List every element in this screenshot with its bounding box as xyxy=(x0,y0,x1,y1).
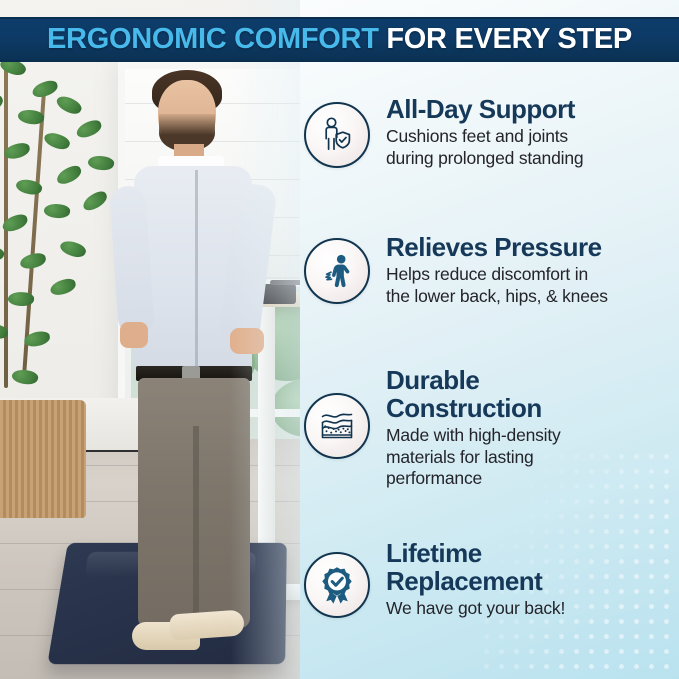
banner-plain-text: FOR EVERY STEP xyxy=(379,23,632,55)
feature-text-block: Lifetime Replacement We have got your ba… xyxy=(386,540,565,620)
header-banner: ERGONOMIC COMFORT FOR EVERY STEP xyxy=(0,17,679,62)
feature-item-lifetime-replacement: Lifetime Replacement We have got your ba… xyxy=(304,540,676,620)
feature-description: Made with high-density materials for las… xyxy=(386,425,561,491)
feature-title: All-Day Support xyxy=(386,96,583,124)
feature-list: All-Day Support Cushions feet and joints… xyxy=(300,62,679,679)
feature-item-relieves-pressure: Relieves Pressure Helps reduce discomfor… xyxy=(304,234,676,308)
feature-title: Relieves Pressure xyxy=(386,234,608,262)
feature-description: Helps reduce discomfort in the lower bac… xyxy=(386,264,608,308)
feature-description: We have got your back! xyxy=(386,598,565,620)
feature-description: Cushions feet and joints during prolonge… xyxy=(386,126,583,170)
feature-item-durable-construction: Durable Construction Made with high-dens… xyxy=(304,367,676,490)
person-shield-icon xyxy=(304,102,370,168)
feature-text-block: All-Day Support Cushions feet and joints… xyxy=(386,96,583,170)
award-badge-check-icon xyxy=(304,552,370,618)
foam-layers-icon xyxy=(304,393,370,459)
feature-text-block: Durable Construction Made with high-dens… xyxy=(386,367,561,490)
feature-title: Lifetime Replacement xyxy=(386,540,565,596)
feature-text-block: Relieves Pressure Helps reduce discomfor… xyxy=(386,234,608,308)
back-pain-person-icon xyxy=(304,238,370,304)
banner-headline: ERGONOMIC COMFORT FOR EVERY STEP xyxy=(47,25,632,54)
feature-title: Durable Construction xyxy=(386,367,561,423)
feature-item-all-day-support: All-Day Support Cushions feet and joints… xyxy=(304,96,676,170)
infographic-page: ERGONOMIC COMFORT FOR EVERY STEP All-Day… xyxy=(0,0,679,679)
banner-accent-text: ERGONOMIC COMFORT xyxy=(47,23,379,55)
